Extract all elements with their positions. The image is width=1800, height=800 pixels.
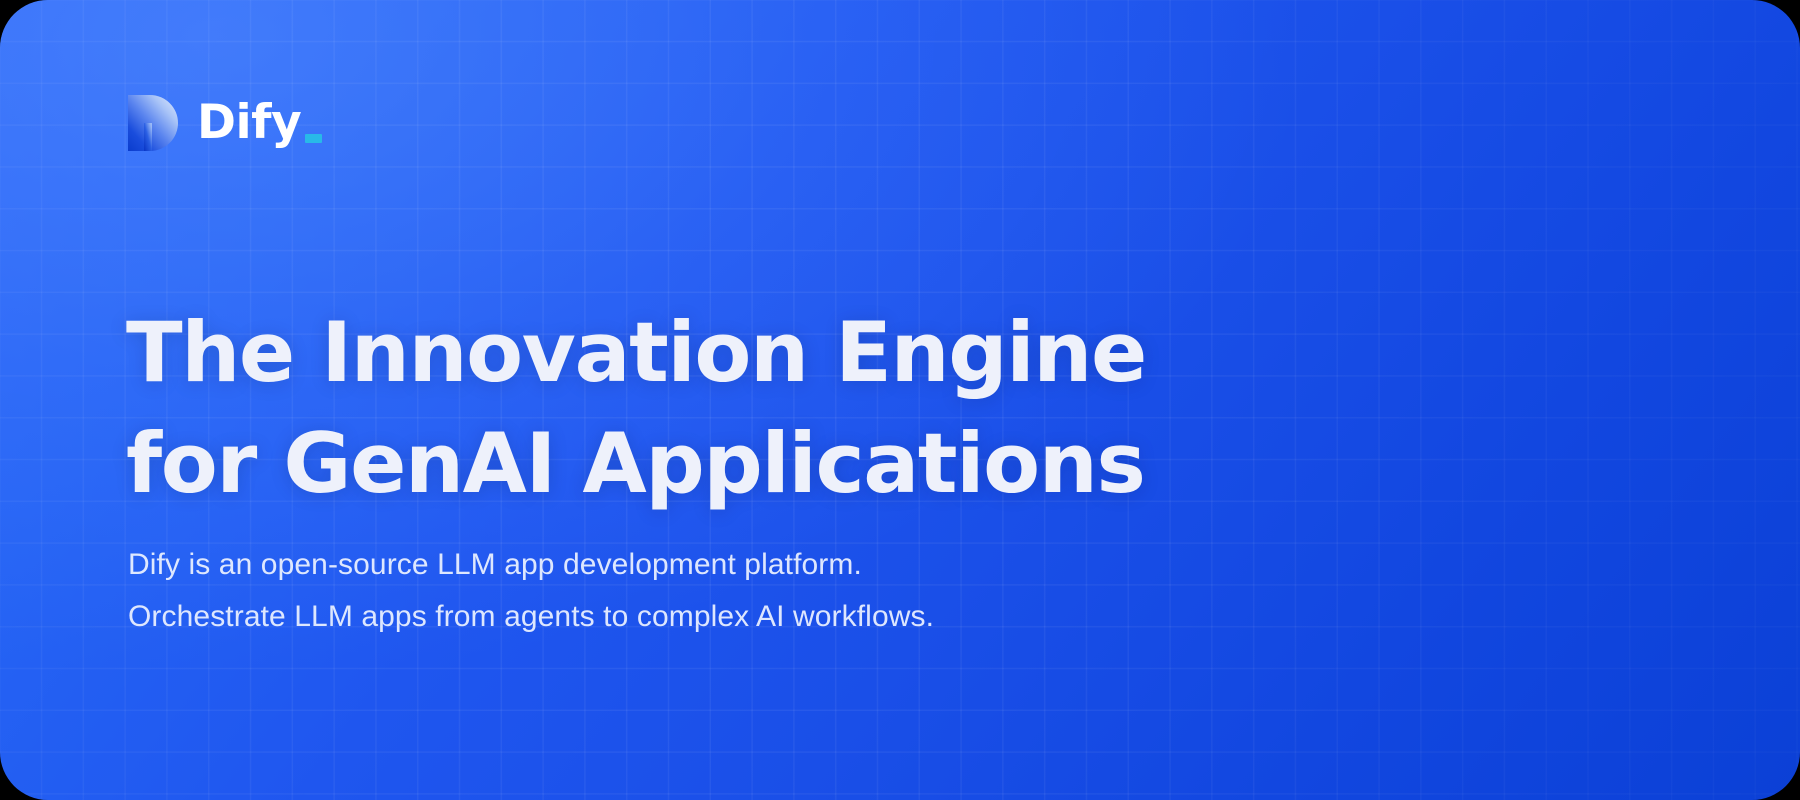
dify-logo-lockup[interactable]: Dify xyxy=(128,95,301,151)
headline-line-2: for GenAI Applications xyxy=(126,408,1306,519)
dify-d-mark-icon xyxy=(128,95,178,151)
cyan-underscore-accent-icon xyxy=(305,134,322,143)
subheadline-line-2: Orchestrate LLM apps from agents to comp… xyxy=(128,591,1328,643)
hero-subheadline: Dify is an open-source LLM app developme… xyxy=(128,539,1328,643)
dify-wordmark: Dify xyxy=(197,95,301,151)
subheadline-line-1: Dify is an open-source LLM app developme… xyxy=(128,539,1328,591)
hero-card: Dify The Innovation Engine for GenAI App… xyxy=(0,0,1800,800)
headline-line-1: The Innovation Engine xyxy=(126,297,1306,408)
hero-headline: The Innovation Engine for GenAI Applicat… xyxy=(126,297,1306,519)
dify-wordmark-text: Dify xyxy=(197,95,301,151)
hero-content: Dify The Innovation Engine for GenAI App… xyxy=(0,0,1800,800)
